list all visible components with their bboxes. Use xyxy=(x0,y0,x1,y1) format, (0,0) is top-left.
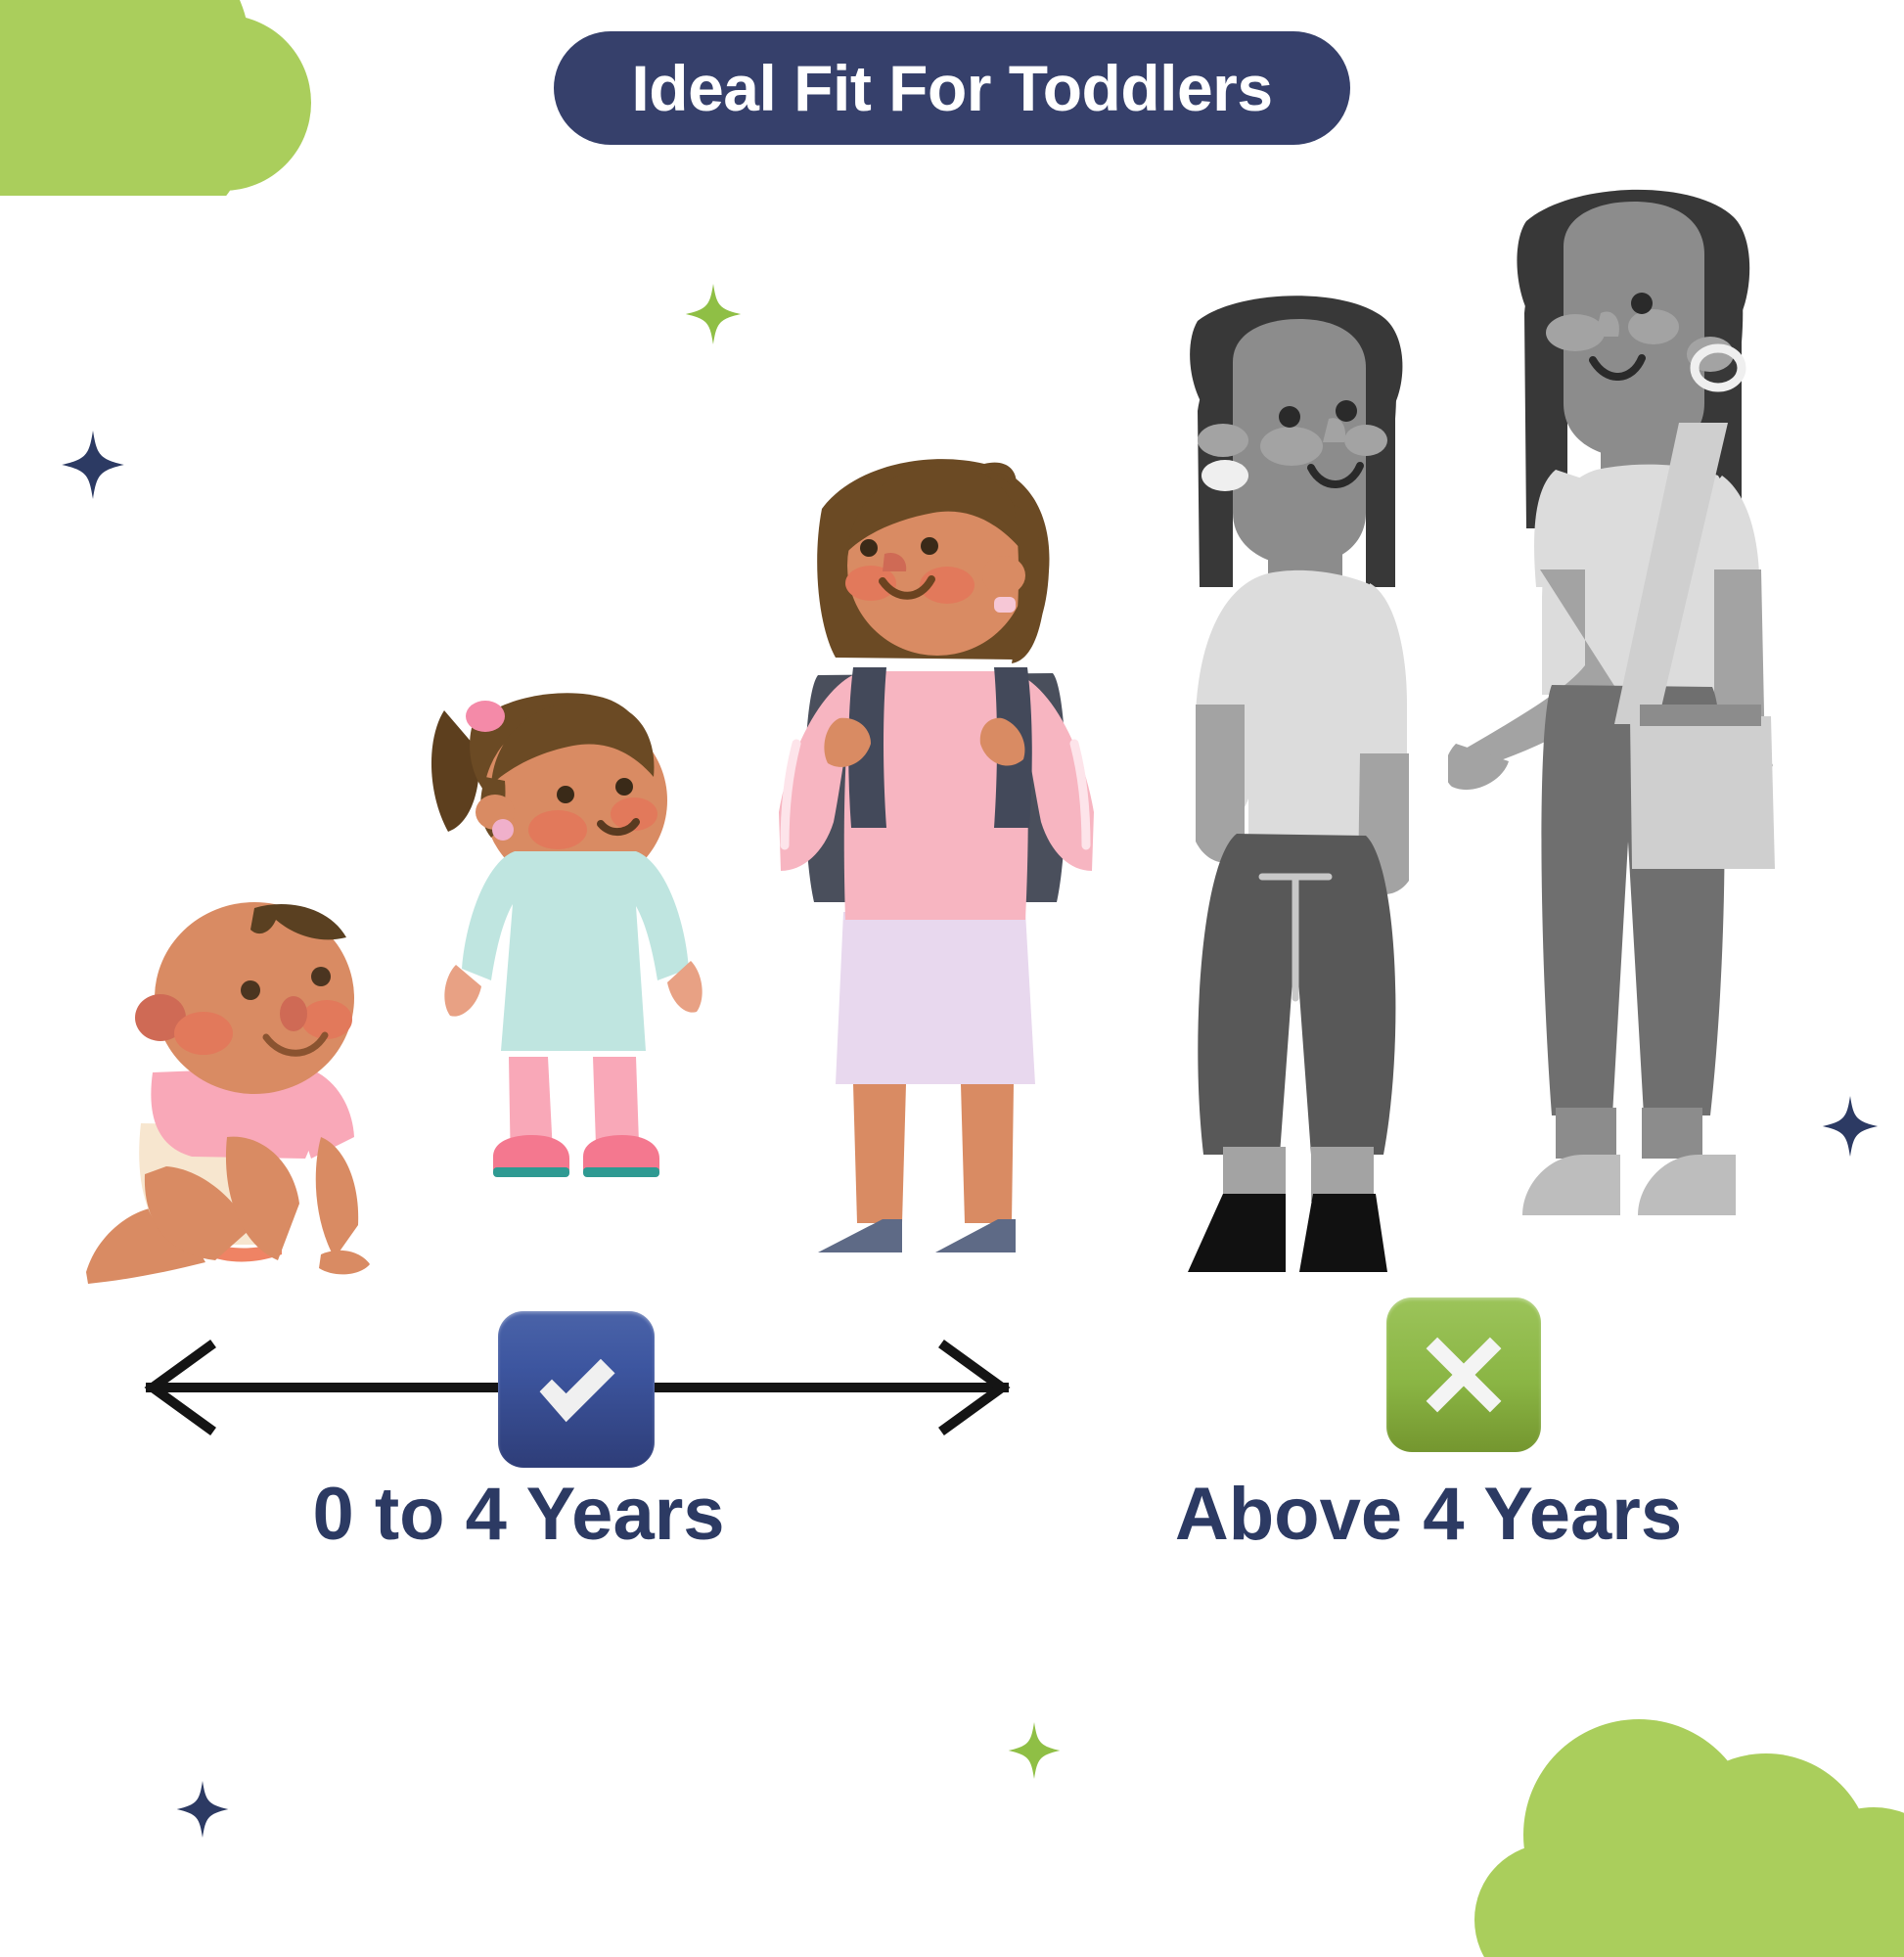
status-badge-rejected[interactable] xyxy=(1386,1297,1541,1452)
title-banner: Ideal Fit For Toddlers xyxy=(554,31,1350,145)
sparkle-navy-right xyxy=(1822,1096,1879,1157)
figure-crawling-baby xyxy=(59,881,391,1292)
check-icon xyxy=(525,1339,627,1440)
age-label-left: 0 to 4 Years xyxy=(0,1478,1037,1552)
sparkle-green-bottom xyxy=(1008,1722,1061,1779)
sparkle-navy-bottom-left xyxy=(176,1781,229,1838)
figure-school-girl-with-backpack xyxy=(763,450,1106,1321)
cross-icon xyxy=(1417,1328,1511,1422)
status-badge-approved[interactable] xyxy=(498,1311,655,1468)
figure-standing-toddler xyxy=(401,675,724,1292)
page-title: Ideal Fit For Toddlers xyxy=(631,56,1272,120)
cloud-top-left xyxy=(0,0,313,196)
cloud-bottom-right xyxy=(1468,1663,1904,1957)
figure-grey-teen-girl xyxy=(1174,294,1468,1311)
figure-grey-teen-girl-with-bag xyxy=(1448,176,1791,1321)
age-label-right: Above 4 Years xyxy=(1008,1478,1849,1552)
sparkle-navy-left xyxy=(61,431,125,499)
sparkle-green-top xyxy=(685,284,742,344)
infographic-canvas: Ideal Fit For Toddlers xyxy=(0,0,1904,1904)
